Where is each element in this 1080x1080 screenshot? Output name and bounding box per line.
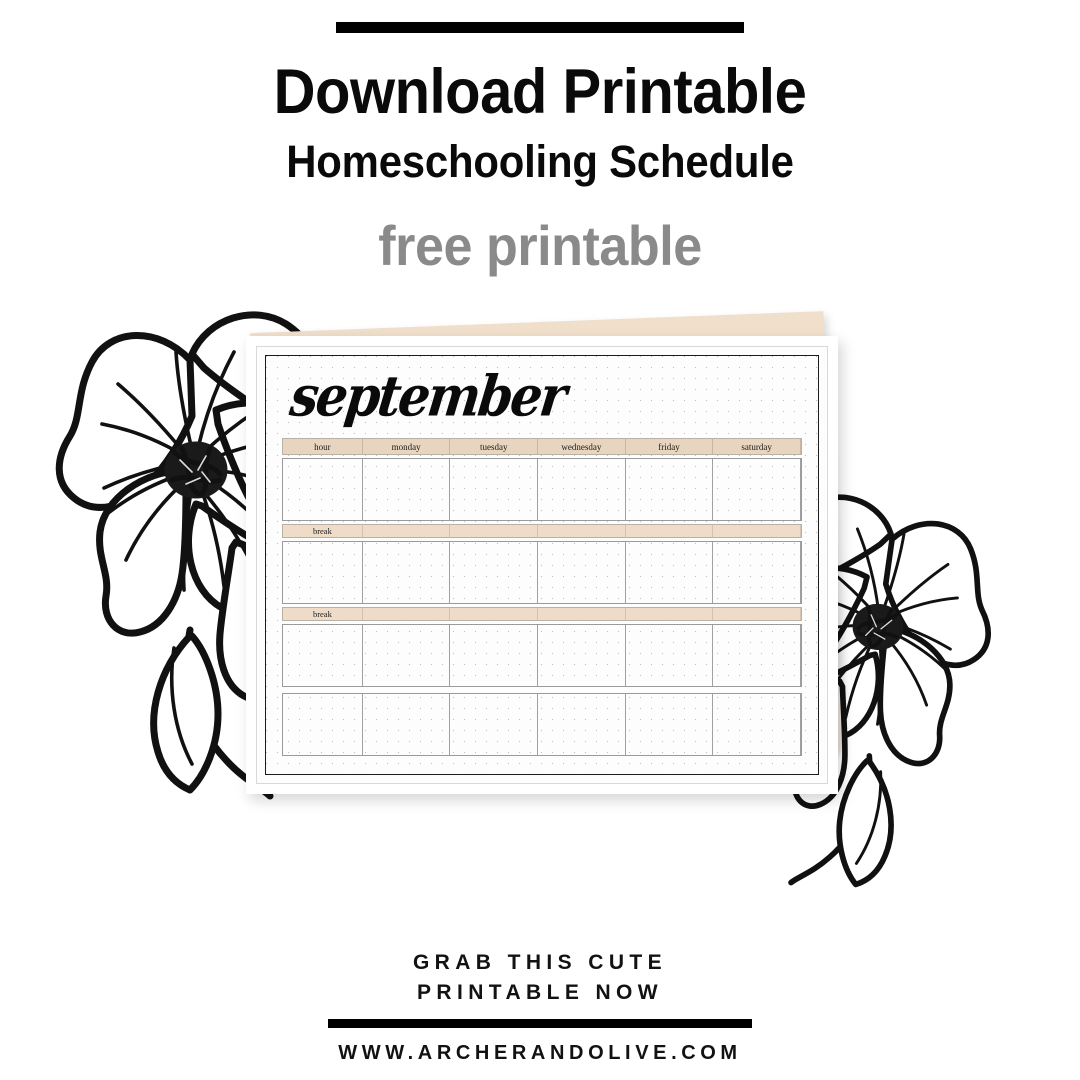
top-divider-rule <box>336 22 744 33</box>
cell-hour[interactable] <box>283 694 363 755</box>
break-row-2: break <box>282 607 802 621</box>
planner-dotgrid-area: september hour monday tuesday wednesday … <box>256 346 828 784</box>
break-cell-saturday <box>713 608 801 620</box>
cell-saturday[interactable] <box>713 625 801 686</box>
printable-planner-page[interactable]: september hour monday tuesday wednesday … <box>246 336 838 794</box>
break-cell-monday <box>363 525 451 537</box>
schedule-block-4[interactable] <box>282 693 802 756</box>
cell-hour[interactable] <box>283 625 363 686</box>
cell-monday[interactable] <box>363 694 451 755</box>
break-cell-friday <box>626 525 714 537</box>
column-header-wednesday: wednesday <box>538 439 626 454</box>
bottom-divider-rule <box>328 1019 752 1028</box>
artwork-stage: september hour monday tuesday wednesday … <box>0 280 1080 900</box>
cell-tuesday[interactable] <box>450 542 538 603</box>
table-header-row: hour monday tuesday wednesday friday sat… <box>282 438 802 455</box>
break-cell-friday <box>626 608 714 620</box>
break-cell-wednesday <box>538 525 626 537</box>
cell-saturday[interactable] <box>713 459 801 520</box>
cell-wednesday[interactable] <box>538 694 626 755</box>
headline-sub: Homeschooling Schedule <box>38 134 1042 190</box>
break-label: break <box>283 525 363 537</box>
cell-wednesday[interactable] <box>538 625 626 686</box>
cell-friday[interactable] <box>626 625 714 686</box>
cell-friday[interactable] <box>626 694 714 755</box>
cell-wednesday[interactable] <box>538 459 626 520</box>
promo-graphic: Download Printable Homeschooling Schedul… <box>0 0 1080 1080</box>
schedule-block-2[interactable] <box>282 541 802 604</box>
break-row-1: break <box>282 524 802 538</box>
schedule-block-3[interactable] <box>282 624 802 687</box>
column-header-hour: hour <box>283 439 363 454</box>
break-cell-monday <box>363 608 451 620</box>
cell-saturday[interactable] <box>713 542 801 603</box>
break-cell-tuesday <box>450 608 538 620</box>
cell-monday[interactable] <box>363 625 451 686</box>
footer-website-url[interactable]: WWW.ARCHERANDOLIVE.COM <box>0 1042 1080 1065</box>
break-cell-wednesday <box>538 608 626 620</box>
cell-monday[interactable] <box>363 459 451 520</box>
cell-friday[interactable] <box>626 459 714 520</box>
cell-hour[interactable] <box>283 542 363 603</box>
schedule-table: hour monday tuesday wednesday friday sat… <box>282 438 802 756</box>
cell-friday[interactable] <box>626 542 714 603</box>
footer-cta-line-1: GRAB THIS CUTE <box>0 948 1080 978</box>
cell-tuesday[interactable] <box>450 694 538 755</box>
break-cell-tuesday <box>450 525 538 537</box>
month-title: september <box>286 368 806 435</box>
headline-group: Download Printable Homeschooling Schedul… <box>0 60 1080 279</box>
footer-cta-line-2: PRINTABLE NOW <box>0 978 1080 1008</box>
cell-wednesday[interactable] <box>538 542 626 603</box>
cell-hour[interactable] <box>283 459 363 520</box>
footer-cta: GRAB THIS CUTE PRINTABLE NOW <box>0 948 1080 1008</box>
column-header-saturday: saturday <box>713 439 801 454</box>
column-header-tuesday: tuesday <box>450 439 538 454</box>
planner-inner-frame: september hour monday tuesday wednesday … <box>265 355 819 775</box>
cell-saturday[interactable] <box>713 694 801 755</box>
column-header-monday: monday <box>363 439 451 454</box>
schedule-block-1[interactable] <box>282 458 802 521</box>
break-cell-saturday <box>713 525 801 537</box>
headline-accent: free printable <box>38 212 1042 279</box>
break-label: break <box>283 608 363 620</box>
cell-tuesday[interactable] <box>450 459 538 520</box>
column-header-friday: friday <box>626 439 714 454</box>
headline-main: Download Printable <box>43 60 1037 126</box>
cell-tuesday[interactable] <box>450 625 538 686</box>
cell-monday[interactable] <box>363 542 451 603</box>
